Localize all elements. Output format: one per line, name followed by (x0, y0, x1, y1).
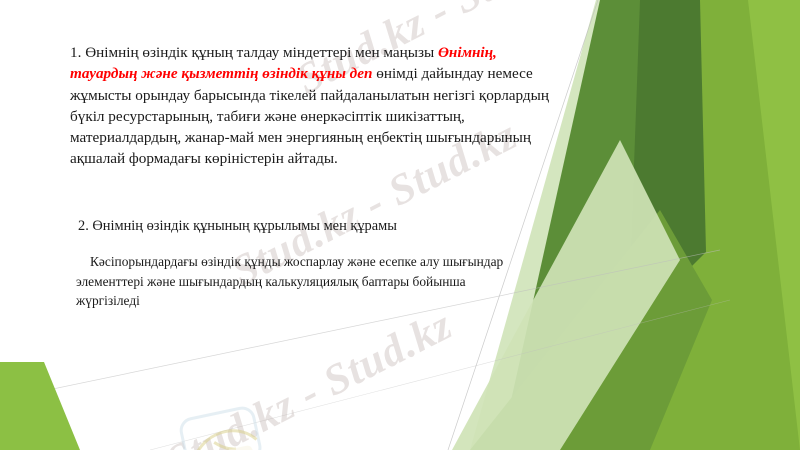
slide-canvas: Stud.kz - Stud.kz Stud.kz - Stud.kz Stud… (0, 0, 800, 450)
deco-shape-bright-band (618, 0, 800, 450)
deco-shape-light-right (612, 0, 800, 450)
section-1-paragraph: 1. Өнімнің өзіндік құның талдау міндетте… (70, 42, 550, 170)
deco-shape-dark-triangle (628, 0, 706, 330)
section-2-heading: 2. Өнімнің өзіндік құнының құрылымы мен … (78, 216, 548, 236)
slide-text-content: 1. Өнімнің өзіндік құның талдау міндетте… (0, 0, 560, 450)
section-2-paragraph: Кәсіпорындардағы өзіндік құнды жоспарлау… (76, 252, 516, 311)
section-2-paragraph-text: Кәсіпорындардағы өзіндік құнды жоспарлау… (76, 254, 503, 308)
section-1-heading: 1. Өнімнің өзіндік құның талдау міндетте… (70, 44, 434, 61)
